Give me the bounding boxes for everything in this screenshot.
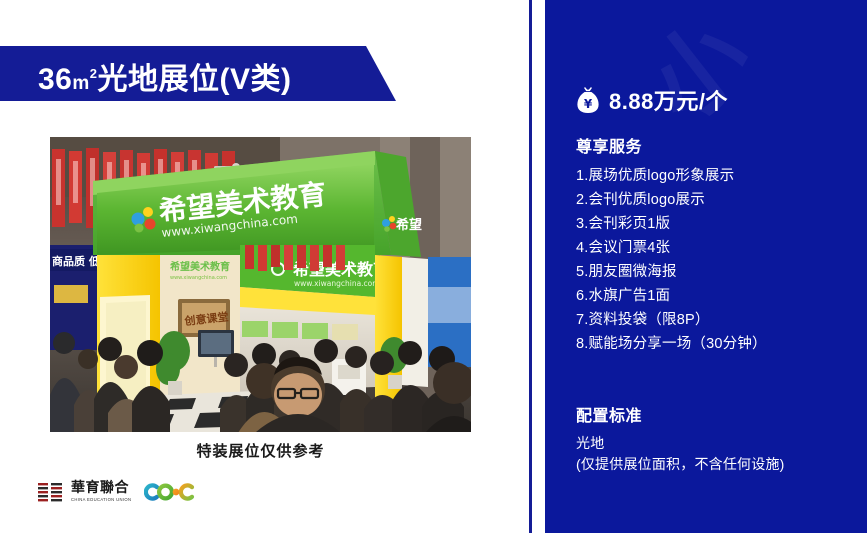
service-item: 4.会议门票4张 bbox=[576, 236, 861, 260]
logo-text-block: 華育聯合 CHINA EDUCATION UNION bbox=[71, 480, 131, 503]
price-amount: 8.88万元/个 bbox=[609, 84, 728, 116]
logo-en-name: CHINA EDUCATION UNION bbox=[71, 496, 131, 503]
title-rest: 光地展位(V类) bbox=[98, 63, 292, 96]
service-item: 1.展场优质logo形象展示 bbox=[576, 164, 861, 188]
ceic-wordmark-icon bbox=[144, 482, 196, 502]
logo-cn-name: 華育聯合 bbox=[71, 480, 131, 495]
config-block: 配置标准 光地 (仅提供展位面积，不含任何设施) bbox=[576, 402, 866, 475]
svg-text:www.xiwangchina.com: www.xiwangchina.com bbox=[294, 279, 380, 288]
poster-canvas: 36m2光地展位(V类) bbox=[0, 0, 867, 533]
title-superscript: 2 bbox=[90, 66, 98, 81]
config-line: (仅提供展位面积，不含任何设施) bbox=[576, 454, 866, 475]
service-item: 3.会刊彩页1版 bbox=[576, 212, 861, 236]
service-item: 8.赋能场分享一场（30分钟） bbox=[576, 332, 861, 356]
service-item: 7.资料投袋（限8P） bbox=[576, 308, 861, 332]
vertical-divider bbox=[529, 0, 532, 533]
money-bag-icon: ¥ bbox=[576, 86, 600, 114]
left-panel: 36m2光地展位(V类) bbox=[0, 0, 529, 533]
services-heading: 尊享服务 bbox=[576, 133, 861, 157]
page-title: 36m2光地展位(V类) bbox=[38, 50, 292, 108]
svg-text:¥: ¥ bbox=[584, 97, 593, 111]
right-panel: 小 ¥ 8.88万元/个 尊享服务 1.展场优质logo形象展示 2.会刊优质l… bbox=[545, 0, 867, 533]
svg-text:希望: 希望 bbox=[396, 217, 422, 233]
svg-text:www.xiwangchina.com: www.xiwangchina.com bbox=[170, 275, 227, 281]
service-item: 2.会刊优质logo展示 bbox=[576, 188, 861, 212]
services-block: 尊享服务 1.展场优质logo形象展示 2.会刊优质logo展示 3.会刊彩页1… bbox=[576, 133, 861, 356]
title-unit: m bbox=[72, 73, 89, 94]
svg-text:希望美术教育: 希望美术教育 bbox=[169, 260, 230, 273]
union-mark-icon bbox=[38, 481, 64, 503]
booth-photo: 商品质 低成本 bbox=[50, 137, 471, 432]
title-number: 36 bbox=[38, 63, 72, 96]
service-item: 5.朋友圈微海报 bbox=[576, 260, 861, 284]
config-line: 光地 bbox=[576, 433, 866, 454]
service-item: 6.水旗广告1面 bbox=[576, 284, 861, 308]
photo-caption: 特装展位仅供参考 bbox=[50, 440, 471, 461]
config-heading: 配置标准 bbox=[576, 402, 866, 426]
price-row: ¥ 8.88万元/个 bbox=[576, 84, 728, 116]
brand-logo: 華育聯合 CHINA EDUCATION UNION bbox=[38, 480, 196, 503]
